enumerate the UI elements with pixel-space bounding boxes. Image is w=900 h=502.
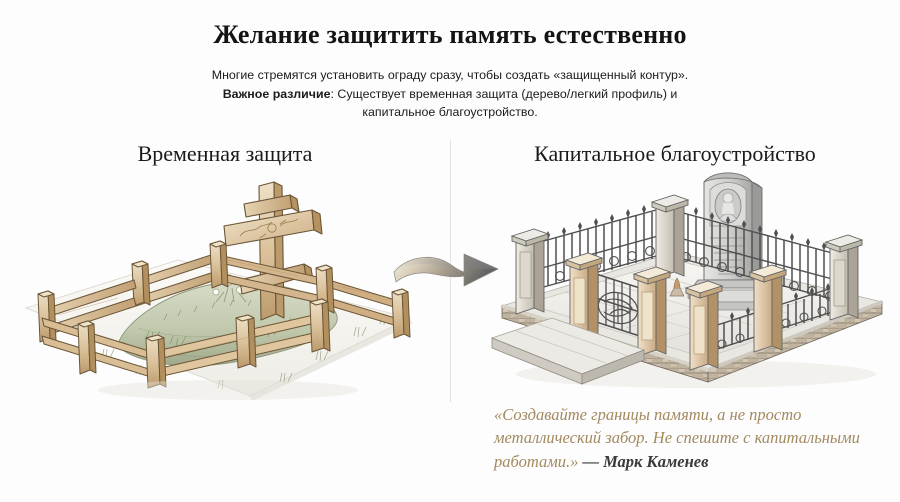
infographic-page: Желание защитить память естественно Мног… bbox=[0, 0, 900, 502]
wooden-temporary-fence-grave-illustration bbox=[18, 168, 418, 400]
subtitle-line-3: капитальное благоустройство. bbox=[362, 105, 537, 119]
quote-author: — Марк Каменев bbox=[582, 452, 708, 471]
subtitle-emphasis: Важное различие bbox=[223, 87, 331, 101]
page-subtitle: Многие стремятся установить ограду сразу… bbox=[150, 66, 750, 122]
column-heading-temporary: Временная защита bbox=[0, 141, 450, 167]
curved-ribbon-arrow-right-icon bbox=[392, 238, 500, 298]
subtitle-line-1: Многие стремятся установить ограду сразу… bbox=[212, 68, 688, 82]
permanent-granite-memorial-illustration bbox=[486, 168, 886, 396]
page-title: Желание защитить память естественно bbox=[0, 20, 900, 50]
subtitle-line-2-rest: : Существует временная защита (дерево/ле… bbox=[331, 87, 678, 101]
column-heading-permanent: Капитальное благоустройство bbox=[450, 141, 900, 167]
quote-block: «Создавайте границы памяти, а не просто … bbox=[494, 403, 894, 473]
